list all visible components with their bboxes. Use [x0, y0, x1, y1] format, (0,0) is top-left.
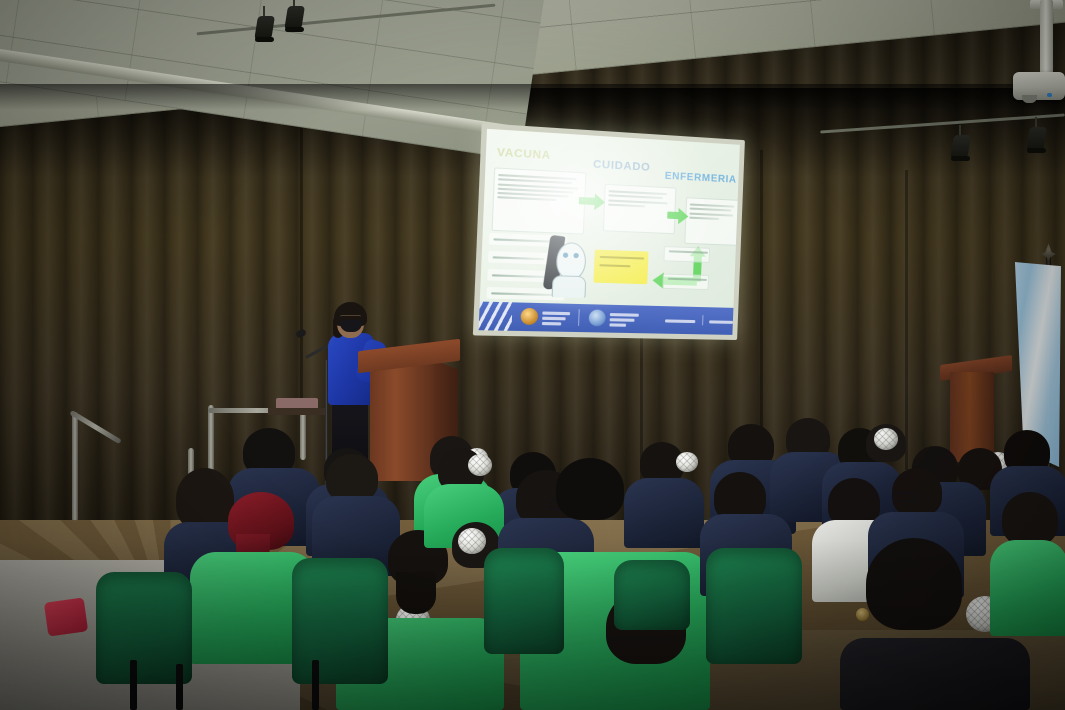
slide-footer-bar	[479, 302, 734, 335]
auditorium-chair	[484, 548, 564, 654]
hair-bun-cover	[676, 452, 698, 472]
slide-text-box-enfermeria	[684, 197, 740, 246]
stair-handrail-post	[72, 412, 78, 522]
audience-torso	[624, 478, 704, 548]
audience-torso-dark	[840, 638, 1030, 710]
stair-handrail-post	[300, 408, 306, 460]
audience-head	[556, 458, 624, 520]
auditorium-photo: VACUNA CUIDADO ENFERMERIA	[0, 0, 1065, 710]
institution-seal-gold-icon	[520, 308, 538, 325]
slide-heading-vacuna: VACUNA	[497, 146, 551, 162]
slide-yellow-note	[593, 250, 648, 285]
chair-leg	[176, 664, 183, 710]
footer-phone-text	[665, 319, 695, 323]
audience-ponytail	[396, 572, 436, 614]
slide-heading-enfermeria: ENFERMERIA	[665, 171, 737, 186]
slide-text-box-cuidado	[603, 184, 677, 234]
presentation-slide: VACUNA CUIDADO ENFERMERIA	[479, 129, 740, 335]
eyeglasses-icon	[892, 492, 918, 502]
chair-leg	[312, 660, 319, 710]
uniform-shoulder-patch	[856, 608, 869, 621]
projector-mount-pole	[1040, 0, 1053, 76]
slide-text-box-vacuna	[492, 167, 587, 234]
slide-heading-cuidado: CUIDADO	[593, 158, 651, 174]
hair-bun-cover	[468, 454, 492, 476]
nurse-illustration-icon	[543, 235, 590, 297]
audience-head-foreground	[866, 538, 962, 630]
ceiling-projector	[1013, 72, 1065, 100]
wall-shelf-edge	[268, 408, 326, 415]
audience-torso-green	[990, 540, 1065, 636]
red-bag	[44, 597, 88, 636]
institution-seal-blue-icon	[589, 309, 606, 326]
auditorium-chair	[706, 548, 802, 664]
hair-bun-cover	[458, 528, 486, 554]
chair-leg	[130, 660, 137, 710]
auditorium-chair	[614, 560, 690, 630]
footer-web-text	[709, 320, 733, 324]
wall-seam	[905, 170, 908, 470]
projection-screen: VACUNA CUIDADO ENFERMERIA	[473, 123, 745, 340]
ceiling-wall-shadow	[0, 84, 1065, 110]
slide-label-promocion	[663, 246, 710, 263]
audience-head-curly	[176, 468, 234, 530]
audience-head	[326, 454, 378, 502]
slide-label-prevencion	[662, 273, 709, 290]
projector-status-led	[1047, 93, 1052, 97]
auditorium-chair	[292, 558, 388, 684]
hair-bun-cover	[874, 428, 898, 450]
audience-head	[1002, 492, 1058, 546]
footer-stripes	[479, 302, 513, 331]
